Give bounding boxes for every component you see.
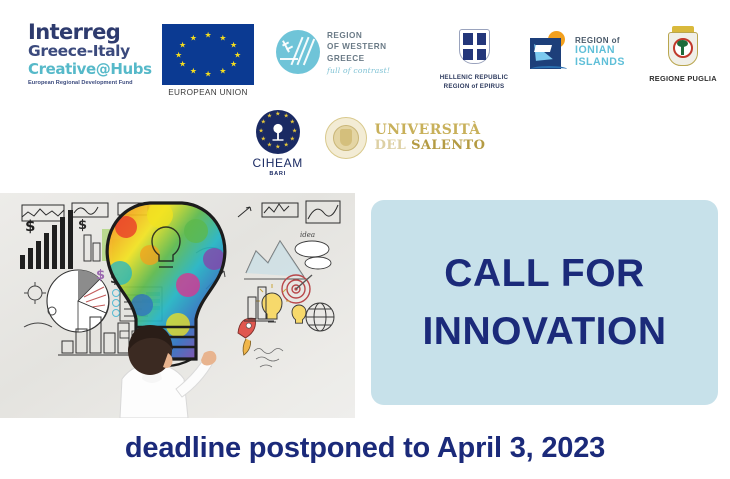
wg-line1: REGION — [327, 30, 390, 41]
ciheam-emblem-icon: ★ ★ ★ ★ ★ ★ ★ ★ ★ ★ ★ ★ — [256, 110, 300, 154]
salento-line1: UNIVERSITÀ — [375, 123, 486, 138]
ciheam-sub: BARI — [245, 171, 311, 177]
salento-line2: DEL SALENTO — [375, 139, 486, 153]
svg-text:$: $ — [96, 268, 105, 283]
logo-european-union: ★ ★ ★ ★ ★ ★ ★ ★ ★ ★ ★ ★ EUROPEAN UNION — [160, 24, 256, 97]
ionian-text: REGION of IONIAN ISLANDS — [575, 36, 625, 68]
hero-section: $ $ — [0, 193, 730, 418]
salento-line2-main: SALENTO — [411, 138, 485, 153]
call-for-innovation-panel: CALL FOR INNOVATION — [371, 200, 718, 405]
svg-text:idea: idea — [300, 231, 315, 239]
cta-line-1: CALL FOR — [444, 246, 644, 301]
hellenic-coat-of-arms-icon — [454, 26, 495, 71]
partner-logo-bar: Interreg Greece-Italy Creative@Hubs Euro… — [0, 0, 730, 193]
puglia-shield-icon — [666, 26, 700, 72]
logo-region-western-greece: REGION OF WESTERN GREECE full of contras… — [276, 30, 390, 75]
ciheam-tree-icon — [269, 123, 286, 141]
interreg-line4: European Regional Development Fund — [28, 80, 150, 86]
epirus-line2: REGION of EPIRUS — [428, 82, 520, 91]
epirus-line1: HELLENIC REPUBLIC — [428, 73, 520, 82]
logo-ciheam-bari: ★ ★ ★ ★ ★ ★ ★ ★ ★ ★ ★ ★ CIHEAM BARI — [245, 110, 311, 177]
deadline-text: deadline postponed to April 3, 2023 — [125, 432, 605, 465]
wg-tagline: full of contrast! — [327, 66, 390, 75]
interreg-line3: Creative@Hubs — [28, 61, 150, 78]
salento-seal-icon — [325, 117, 367, 159]
interreg-line1: Interreg — [28, 22, 150, 43]
salento-line2-dim: DEL — [375, 138, 411, 153]
ciheam-name: CIHEAM — [245, 156, 311, 170]
interreg-line2: Greece-Italy — [28, 43, 150, 60]
logo-row-secondary: ★ ★ ★ ★ ★ ★ ★ ★ ★ ★ ★ ★ CIHEAM BARI — [0, 108, 730, 178]
puglia-label: REGIONE PUGLIA — [638, 74, 728, 83]
eu-flag-icon: ★ ★ ★ ★ ★ ★ ★ ★ ★ ★ ★ ★ — [162, 24, 254, 85]
logo-row-primary: Interreg Greece-Italy Creative@Hubs Euro… — [0, 18, 730, 96]
western-greece-circle-icon — [276, 30, 320, 74]
eu-label: EUROPEAN UNION — [160, 88, 256, 97]
cta-line-2: INNOVATION — [422, 304, 666, 359]
logo-universita-del-salento: UNIVERSITÀ DEL SALENTO — [325, 117, 486, 159]
deadline-bar: deadline postponed to April 3, 2023 — [0, 418, 730, 479]
ionian-sail-sun-icon — [528, 30, 570, 74]
ionian-line3: ISLANDS — [575, 57, 625, 68]
svg-text:$: $ — [25, 217, 35, 235]
svg-text:$: $ — [78, 218, 87, 233]
logo-region-ionian-islands: REGION of IONIAN ISLANDS — [528, 30, 625, 74]
hero-photo-lightbulb-doodles: $ $ — [0, 193, 355, 418]
logo-interreg-creative-hubs: Interreg Greece-Italy Creative@Hubs Euro… — [28, 22, 150, 86]
ionian-line2: IONIAN — [575, 45, 625, 56]
hero-illustration: $ $ — [0, 193, 355, 418]
logo-regione-puglia: REGIONE PUGLIA — [638, 26, 728, 83]
western-greece-text: REGION OF WESTERN GREECE full of contras… — [327, 30, 390, 75]
logo-region-epirus: HELLENIC REPUBLIC REGION of EPIRUS — [428, 26, 520, 92]
salento-text: UNIVERSITÀ DEL SALENTO — [375, 123, 486, 152]
wg-line3: GREECE — [327, 53, 390, 64]
wg-line2: OF WESTERN — [327, 41, 390, 52]
